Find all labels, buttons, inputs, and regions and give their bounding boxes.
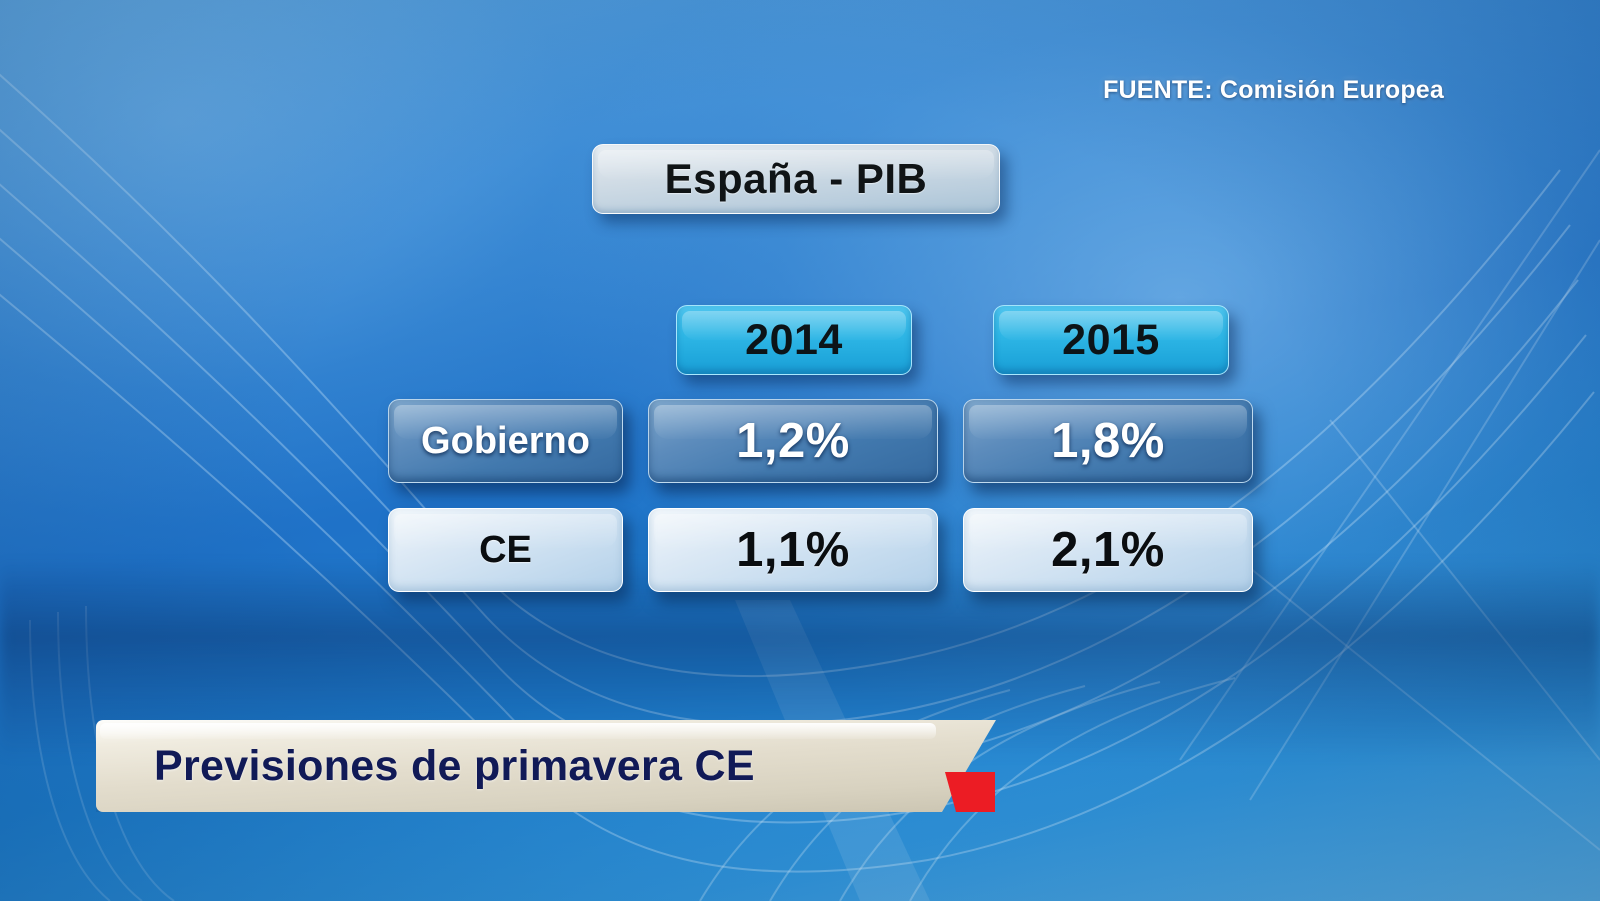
column-header-2015-label: 2015: [1062, 316, 1160, 365]
banner-headline-text: Previsiones de primavera CE: [154, 720, 755, 812]
table-cell-ce-2014: 1,1%: [648, 508, 938, 592]
table-row-label-ce: CE: [388, 508, 623, 592]
table-row-label-gobierno: Gobierno: [388, 399, 623, 483]
table-cell-gobierno-2015: 1,8%: [963, 399, 1253, 483]
cell-value-text: 1,2%: [736, 413, 850, 469]
row-label-text: CE: [479, 529, 532, 572]
lower-third-banner: Previsiones de primavera CE: [96, 720, 996, 812]
banner-red-accent: [945, 772, 995, 812]
chart-title-text: España - PIB: [665, 155, 928, 203]
table-cell-ce-2015: 2,1%: [963, 508, 1253, 592]
cell-value-text: 1,1%: [736, 522, 850, 578]
column-header-2015: 2015: [993, 305, 1229, 375]
chart-title-panel: España - PIB: [592, 144, 1000, 214]
column-header-2014-label: 2014: [745, 316, 843, 365]
tv-news-graphic: FUENTE: Comisión Europea España - PIB 20…: [0, 0, 1600, 901]
cell-value-text: 1,8%: [1051, 413, 1165, 469]
cell-value-text: 2,1%: [1051, 522, 1165, 578]
table-cell-gobierno-2014: 1,2%: [648, 399, 938, 483]
row-label-text: Gobierno: [421, 420, 590, 463]
source-credit: FUENTE: Comisión Europea: [1103, 76, 1444, 105]
column-header-2014: 2014: [676, 305, 912, 375]
